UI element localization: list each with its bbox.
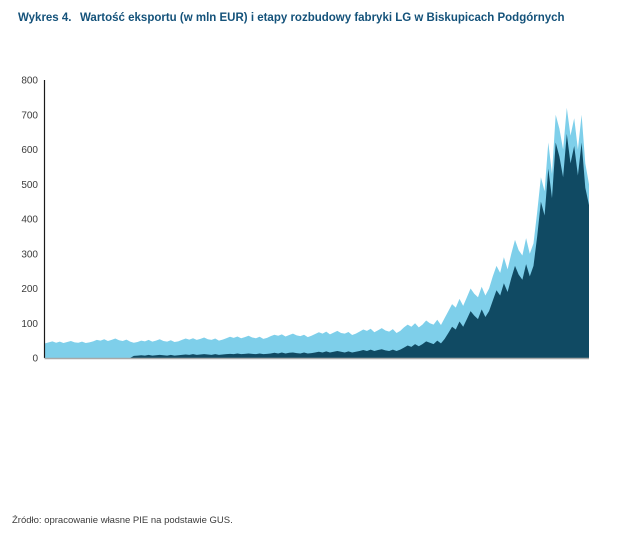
y-axis-tick-label: 800 (21, 76, 38, 87)
x-axis-labels (0, 360, 621, 440)
y-axis-tick-label: 500 (21, 180, 38, 191)
source-note: Źródło: opracowanie własne PIE na podsta… (12, 515, 233, 526)
chart-svg: 0100200300400500600700800 (0, 68, 621, 368)
y-axis-tick-label: 400 (21, 215, 38, 226)
chart-title: Wykres 4.Wartość eksportu (w mln EUR) i … (18, 8, 608, 28)
y-axis-tick-label: 700 (21, 110, 38, 121)
y-axis-tick-label: 300 (21, 249, 38, 260)
y-axis-tick-group: 0100200300400500600700800 (21, 76, 38, 365)
y-axis-tick-label: 200 (21, 284, 38, 295)
chart-title-number: Wykres 4. (18, 8, 80, 28)
y-axis-tick-label: 100 (21, 319, 38, 330)
series-area (45, 134, 589, 358)
y-axis-tick-label: 600 (21, 145, 38, 156)
chart-plot-area: 0100200300400500600700800 (0, 68, 621, 368)
chart-title-text: Wartość eksportu (w mln EUR) i etapy roz… (80, 8, 585, 28)
series-area-group (45, 108, 589, 358)
